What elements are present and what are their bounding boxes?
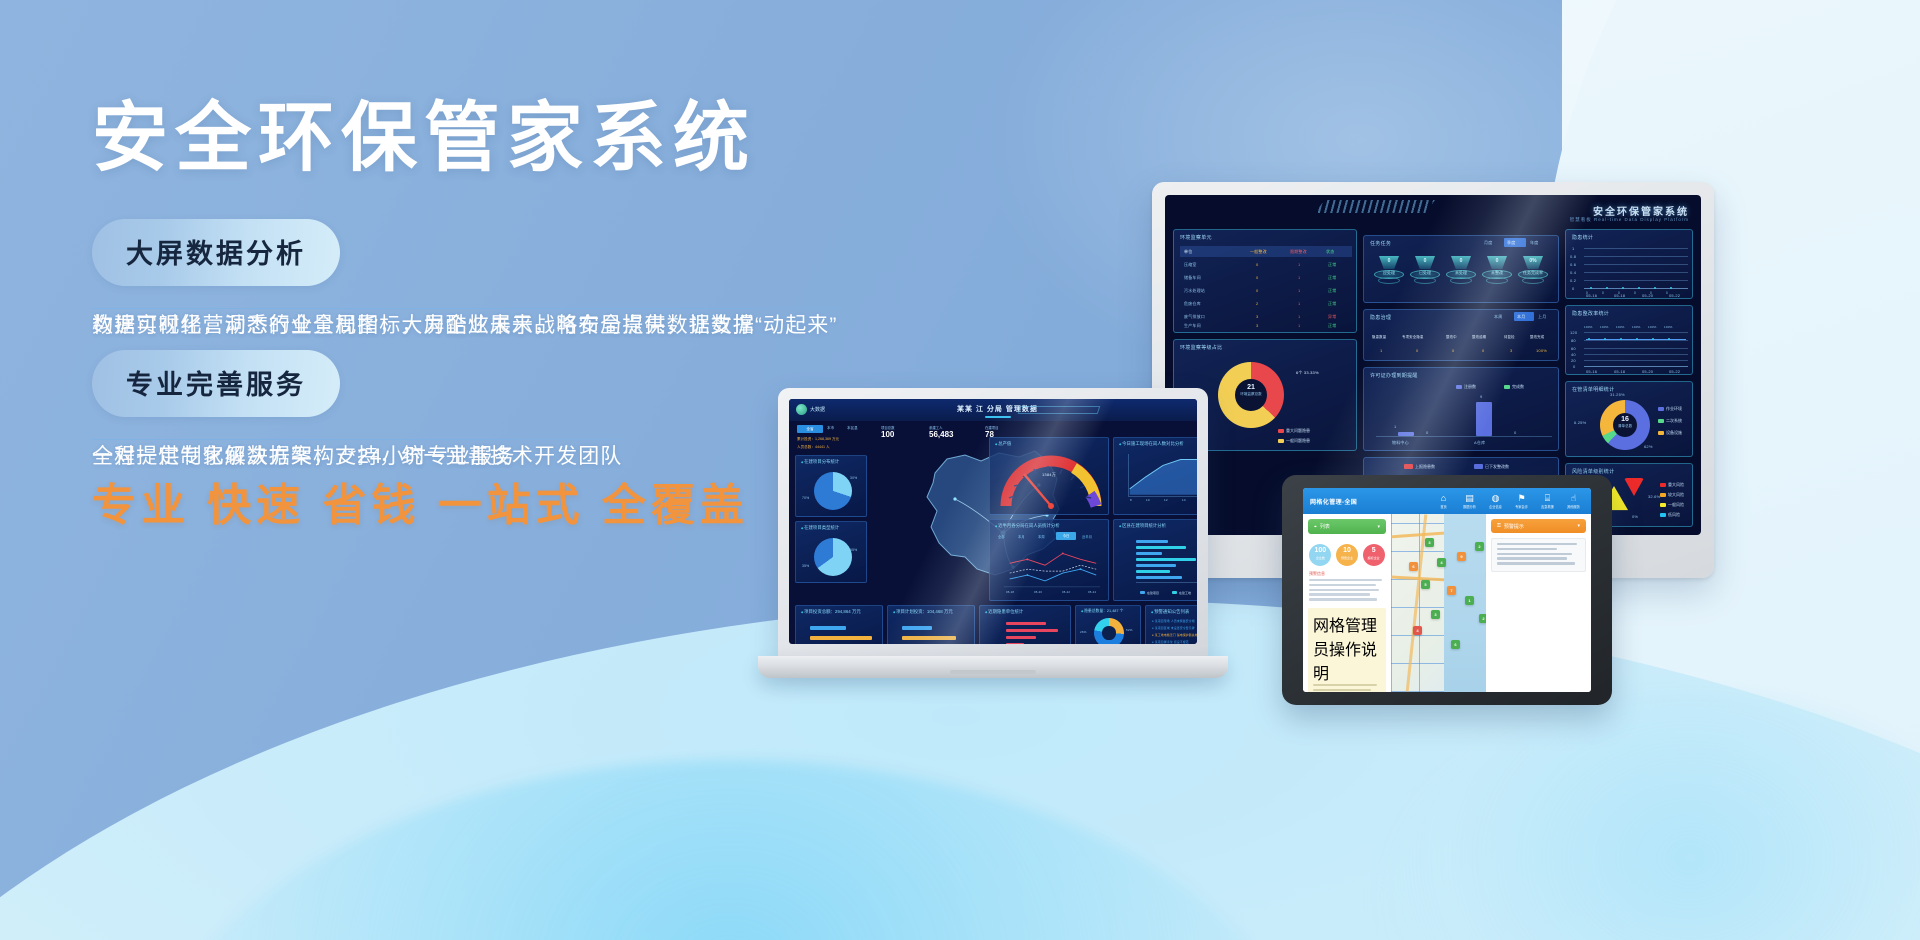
cell-status: 正常 xyxy=(1328,262,1336,268)
y-tick: 0 xyxy=(1573,364,1575,369)
slice-label: 65% xyxy=(850,548,857,552)
donut-value: 16 xyxy=(1621,416,1629,423)
cell-c2: 1 xyxy=(1298,275,1300,280)
x-tick: 8 xyxy=(1130,498,1132,502)
map-marker[interactable]: 3 xyxy=(1431,610,1440,619)
panel-unit-table: 环境监察单元 单位 一般整改 限期整改 状态 压缩室 0 1 正常 xyxy=(1173,229,1357,333)
point-label: 100% xyxy=(1632,325,1640,329)
page-title: 安全环保管家系统 xyxy=(92,96,1032,181)
x-tick: 14 xyxy=(1182,498,1186,502)
panel-project-type: 在建项目类型统计 65% 35% xyxy=(795,521,867,583)
map-marker[interactable]: 6 xyxy=(1409,562,1418,571)
point-label: 100% xyxy=(1600,325,1608,329)
warning-list xyxy=(1491,538,1586,572)
app-title: 网格化管理-全国 xyxy=(1310,497,1357,506)
cell-value: 1 xyxy=(1380,348,1382,353)
tab-active[interactable]: 全省 xyxy=(797,425,823,433)
feature-line: 数据可视化，洞悉行业全局指标，为企业未来战略布局提供数据支撑 xyxy=(92,308,755,309)
panel-hazard-line: 隐患统计 1 0.8 0.6 0.4 0.2 0 xyxy=(1565,229,1693,299)
thumb-icon: ☝ xyxy=(1565,493,1582,503)
cell-c2: 1 xyxy=(1298,314,1300,319)
donut-label: 清单总数 xyxy=(1600,424,1650,429)
panel-title: 环境监察单元 xyxy=(1180,234,1212,241)
tab[interactable]: 本市 xyxy=(827,426,834,431)
alarm-icon: ⌸ xyxy=(1539,493,1556,503)
notice-item: ● 某项目区域 未设置安全警示牌 xyxy=(1152,626,1195,630)
x-tick: 05-16 xyxy=(1586,369,1597,374)
panel-title: 区县在建项目统计分析 xyxy=(1119,523,1166,529)
panel-hazard-donut: 隐患总数量：21,487 个 26% 52% 一般隐患 xyxy=(1075,605,1141,644)
cell-c2: 1 xyxy=(1298,323,1300,328)
task-cone: 0已处理 xyxy=(1408,256,1442,290)
bar xyxy=(1476,402,1492,436)
header-deco-icon xyxy=(1018,406,1101,414)
annotation: 32.6% xyxy=(1648,494,1660,499)
map-marker[interactable]: 4 xyxy=(1437,558,1446,567)
donut-center-label: 16 清单总数 xyxy=(1600,400,1650,450)
cell-value: 0 xyxy=(1452,348,1454,353)
panel-title: 隐患总数量：21,487 个 xyxy=(1081,609,1123,614)
panel-title: 风险清单级别统计 xyxy=(1572,468,1614,475)
pie-chart xyxy=(814,538,852,576)
tab[interactable]: 年度 xyxy=(1530,240,1538,246)
cell-value: 0 xyxy=(1482,348,1484,353)
legend-item: 上报隐患数 xyxy=(1404,464,1435,470)
alert-list: 预警信息 xyxy=(1303,569,1391,605)
panel-title: 许可证办理到期提醒 xyxy=(1370,372,1418,379)
panel-title: 项目投资总额：294,864 万元 xyxy=(801,609,861,615)
panel-title: 总产值 xyxy=(995,441,1011,447)
y-tick: 120 xyxy=(1570,330,1577,335)
cell-c1: 3 xyxy=(1256,323,1258,328)
legend-item: 二次系统 xyxy=(1658,418,1682,424)
bar xyxy=(1136,540,1168,543)
bar xyxy=(1136,558,1196,561)
cell-status: 正常 xyxy=(1328,301,1336,307)
cell-value: 0 xyxy=(1416,348,1418,353)
slice-label: 70% xyxy=(802,496,809,500)
hero-banner: 安全环保管家系统 大屏数据分析 构建实时经营动态的全景视图，大屏酷炫展示，将安全… xyxy=(0,0,1920,940)
y-tick: 20 xyxy=(1571,358,1576,363)
x-tick: A仓库 xyxy=(1474,440,1485,446)
laptop-lid: 大数据 某某 江 分局 管理数据 全省 本市 本区县 累计投资：1,268,36… xyxy=(778,388,1208,660)
brand-name: 大数据 xyxy=(810,406,825,413)
notice-item: ● 某工地电箱无门 漏电保护器失效 xyxy=(1152,633,1197,637)
cell-c2: 1 xyxy=(1298,288,1300,293)
bar xyxy=(1006,643,1024,644)
info-icon: ◍ xyxy=(1487,493,1504,503)
legend-item: 重大风险 xyxy=(1660,482,1684,488)
cell-name: 储备车间 xyxy=(1184,275,1201,281)
gauge-value: 1384万 xyxy=(1042,472,1056,478)
device-showcase: 安全环保管家系统 智慧看板 Real-time Data Display Pla… xyxy=(900,150,1920,830)
alert-title: 预警信息 xyxy=(1309,571,1385,577)
cell-name: 污水处理站 xyxy=(1184,288,1205,294)
x-tick: 10 xyxy=(1146,498,1150,502)
nav-data-analysis[interactable]: ▤数据分析 xyxy=(1461,493,1478,509)
total-investment: 累计投资：1,268,369 万元 xyxy=(797,437,839,442)
tablet-device: 网格化管理-全国 ⌂首页 ▤数据分析 ◍企业信息 ⚑专家会诊 ⌸应急救援 ☝其他… xyxy=(1282,475,1612,705)
x-tick: 05-18 xyxy=(1614,293,1625,298)
y-tick: 80 xyxy=(1571,338,1576,343)
cell-status: 正常 xyxy=(1328,275,1336,281)
x-tick: 05-22 xyxy=(1669,369,1680,374)
header-stripes-icon xyxy=(1315,200,1435,213)
y-tick: 40 xyxy=(1571,352,1576,357)
cell-name: 危废仓库 xyxy=(1184,301,1201,307)
home-icon: ⌂ xyxy=(1435,493,1452,503)
cell-name: 废气排放口 xyxy=(1184,314,1205,320)
bar xyxy=(1136,564,1176,567)
laptop-dashboard: 大数据 某某 江 分局 管理数据 全省 本市 本区县 累计投资：1,268,36… xyxy=(789,399,1197,644)
tab[interactable]: 月度 xyxy=(1484,240,1492,246)
panel-project-distribution: 在建项目分布统计 30% 70% xyxy=(795,455,867,517)
legend-item: 一般风险 xyxy=(1660,502,1684,508)
x-tick: 05-22 xyxy=(1669,293,1680,298)
stat-circles: 100 企业数 10 预警企业 5 超标企业 xyxy=(1303,539,1391,569)
y-tick: 60 xyxy=(1571,346,1576,351)
panel-checklist-donut: 在管清单明细统计 16 清单总数 31.25% 6.25% 62% xyxy=(1565,381,1693,457)
panel-rectification-rate-line: 隐患整改率统计 120 80 60 40 20 0 xyxy=(1565,305,1693,375)
bar xyxy=(902,626,932,630)
nav-expert[interactable]: ⚑专家会诊 xyxy=(1513,493,1530,509)
legend-item: 已下发整改数 xyxy=(1474,464,1509,470)
col-header: 隐患数量 xyxy=(1372,334,1386,339)
panel-title: 在建项目类型统计 xyxy=(801,525,839,531)
map-marker[interactable]: 4 xyxy=(1413,626,1422,635)
nav-emergency[interactable]: ⌸应急救援 xyxy=(1539,493,1556,509)
map-marker[interactable]: 3 xyxy=(1425,538,1434,547)
chevron-down-icon: ▾ xyxy=(1377,524,1380,530)
laptop-base xyxy=(758,656,1228,678)
task-cone: 0未处理 xyxy=(1444,256,1478,290)
laptop-device: 大数据 某某 江 分局 管理数据 全省 本市 本区县 累计投资：1,268,36… xyxy=(758,388,1228,706)
lock-icon: ⚿ xyxy=(1497,523,1501,529)
tab[interactable]: 本周 xyxy=(1494,314,1502,320)
panel-tasks: 任务任务 月度 季度 年度 0应处理 0已处理 0未处理 0未整改 0%任务完成… xyxy=(1363,235,1559,303)
panel-title: 环境监察等级占比 xyxy=(1180,344,1222,351)
legend-item: 重大问题隐患 xyxy=(1278,428,1310,434)
point-label: 100% xyxy=(1616,325,1624,329)
panel-title: 隐患治理 xyxy=(1370,314,1391,321)
pin-icon: ⌖ xyxy=(1314,524,1317,530)
person-icon: ⚑ xyxy=(1513,493,1530,503)
col-header: 限期整改 xyxy=(1290,249,1307,255)
stat-total: 100 企业数 xyxy=(1309,544,1331,566)
x-tick: 12 xyxy=(1164,498,1168,502)
notice-item: ● 某项目现场 人员未佩戴安全帽 xyxy=(1152,619,1195,623)
tablet-app-header: 网格化管理-全国 ⌂首页 ▤数据分析 ◍企业信息 ⚑专家会诊 ⌸应急救援 ☝其他… xyxy=(1303,488,1591,514)
x-tick: 05-16 xyxy=(1586,293,1597,298)
legend-item: 在建项目 xyxy=(1140,590,1159,595)
map-marker[interactable]: 7 xyxy=(1447,586,1456,595)
donut-chart xyxy=(1094,618,1124,644)
notice-item: ● 某项目脚手架 搭设不规范 xyxy=(1152,640,1189,644)
task-cone: 0未整改 xyxy=(1480,256,1514,290)
point-label: 100% xyxy=(1584,325,1592,329)
nav-home[interactable]: ⌂首页 xyxy=(1435,493,1452,509)
bar xyxy=(1006,629,1058,632)
col-header: 整改逾期 xyxy=(1472,334,1486,339)
feature-line: 一对一定制化解决方案，7*24小时专业服务 xyxy=(92,439,515,440)
total-people: 人员总数：44441 人 xyxy=(797,445,830,450)
cell-name: 生产车间 xyxy=(1184,323,1201,329)
panel-title: 近期隐患单位统计 xyxy=(985,609,1023,615)
tablet-body: 网格化管理-全国 ⌂首页 ▤数据分析 ◍企业信息 ⚑专家会诊 ⌸应急救援 ☝其他… xyxy=(1282,475,1612,705)
pie-chart xyxy=(814,472,852,510)
y-tick: 1 xyxy=(1572,246,1574,251)
panel-onsite-trend: 今日施工现场在岗人数对比分析 8 10 12 14 16 xyxy=(1113,437,1197,515)
panel-hazard-management: 隐患治理 本周 本月 上月 隐患数量 专项安全隐患 整改中 整改逾期 待复检 整… xyxy=(1363,309,1559,361)
chevron-down-icon: ▾ xyxy=(1577,523,1580,529)
dashboard-title: 安全环保管家系统 xyxy=(1593,203,1689,218)
bar xyxy=(1006,636,1036,639)
panel-title: 任务任务 xyxy=(1370,240,1391,247)
legend-item: 注册数 xyxy=(1456,384,1476,390)
stat-exceed: 5 超标企业 xyxy=(1363,544,1385,566)
task-cone: 0%任务完成率 xyxy=(1516,256,1550,290)
task-cone: 0应处理 xyxy=(1372,256,1406,290)
cell-c1: 2 xyxy=(1256,301,1258,306)
col-header: 状态 xyxy=(1326,249,1334,255)
monitor-icon: ▤ xyxy=(1461,493,1478,503)
list-dropdown[interactable]: ⌖ 列表 ▾ xyxy=(1308,519,1386,534)
panel-planned-investment: 项目计划投资：104,468 万元 xyxy=(887,605,975,644)
tab[interactable]: 本区县 xyxy=(847,426,858,431)
bar xyxy=(1398,432,1414,436)
pie-slice-major xyxy=(1624,478,1644,496)
legend-item: 设备设施 xyxy=(1658,430,1682,436)
annotation: 62% xyxy=(1644,444,1653,449)
panel-title: 在建项目分布统计 xyxy=(801,459,839,465)
donut-value: 21 xyxy=(1247,384,1255,391)
cell-c2: 1 xyxy=(1298,301,1300,306)
cell-c1: 0 xyxy=(1256,262,1258,267)
x-tick: 05-20 xyxy=(1642,293,1653,298)
tablet-nav: ⌂首页 ▤数据分析 ◍企业信息 ⚑专家会诊 ⌸应急救援 ☝其他服务 xyxy=(1435,493,1591,509)
map-marker[interactable]: 1 xyxy=(1465,596,1474,605)
bar xyxy=(1136,570,1170,573)
map-marker[interactable]: 6 xyxy=(1451,640,1460,649)
col-header: 整改中 xyxy=(1446,334,1457,339)
y-tick: 0.2 xyxy=(1570,278,1576,283)
tablet-screen: 网格化管理-全国 ⌂首页 ▤数据分析 ◍企业信息 ⚑专家会诊 ⌸应急救援 ☝其他… xyxy=(1303,488,1591,692)
panel-title: 隐患统计 xyxy=(1572,234,1593,241)
col-header: 一般整改 xyxy=(1250,249,1267,255)
legend-item: 完成数 xyxy=(1504,384,1524,390)
donut-annotation: 6个 33.33% xyxy=(1296,370,1319,376)
legend-item: 较大风险 xyxy=(1660,492,1684,498)
y-tick: 0.8 xyxy=(1570,254,1576,259)
cell-c1: 0 xyxy=(1256,275,1258,280)
x-tick: 05-18 xyxy=(1614,369,1625,374)
col-header: 单位 xyxy=(1184,249,1192,255)
point-label: 100% xyxy=(1648,325,1656,329)
panel-warning-notices: 预警通知公告列表 ● 某项目现场 人员未佩戴安全帽 ● 某项目区域 未设置安全警… xyxy=(1145,605,1197,644)
feature-badge-professional-service: 专业完善服务 xyxy=(92,350,340,417)
laptop-screen: 大数据 某某 江 分局 管理数据 全省 本市 本区县 累计投资：1,268,36… xyxy=(789,399,1197,644)
bar xyxy=(810,626,846,630)
cell-status: 正常 xyxy=(1328,288,1336,294)
legend-item: 低风险 xyxy=(1660,512,1680,518)
cell-c2: 1 xyxy=(1298,262,1300,267)
brand-logo-icon xyxy=(796,404,807,415)
slice-label: 35% xyxy=(802,564,809,568)
tablet-grid-map[interactable]: 6 3 4 9 2 8 5 7 1 3 2 4 6 5 2 xyxy=(1391,514,1486,692)
tab-active[interactable]: 本月 xyxy=(1514,312,1534,321)
map-marker[interactable]: 5 xyxy=(1421,580,1430,589)
kpi-item: 项目总数 100 xyxy=(881,425,895,439)
y-tick: 0.4 xyxy=(1570,270,1576,275)
col-header: 专项安全隐患 xyxy=(1402,334,1424,339)
cell-c1: 0 xyxy=(1256,288,1258,293)
col-header: 整改完成 xyxy=(1530,334,1544,339)
panel-district-rank: 区县在建项目统计分析 在建项目 在建工地 xyxy=(1113,519,1197,601)
point-label: 100% xyxy=(1664,325,1672,329)
col-header: 待复检 xyxy=(1504,334,1515,339)
warning-dropdown[interactable]: ⚿ 预警提示 ▾ xyxy=(1491,519,1586,533)
cell-name: 压缩室 xyxy=(1184,262,1197,268)
x-tick: 05-20 xyxy=(1642,369,1653,374)
map-marker[interactable]: 9 xyxy=(1457,552,1466,561)
panel-investment-total: 项目投资总额：294,864 万元 xyxy=(795,605,883,644)
dashboard-subtitle: 智慧看板 Real-time Data Display Platform xyxy=(1570,217,1689,223)
bar xyxy=(810,636,872,640)
panel-multi-line: 近半月各分局在岗人员统计分析 全部 本月 本周 今日 近半月 xyxy=(989,519,1109,601)
legend-item: 作业环境 xyxy=(1658,406,1682,412)
cell-status: 异常 xyxy=(1328,314,1336,320)
y-tick: 0 xyxy=(1572,286,1574,291)
bar xyxy=(1136,546,1186,549)
panel-title: 预警通知公告列表 xyxy=(1151,609,1189,615)
annotation: 0% xyxy=(1632,514,1638,519)
panel-license-expiry-bar: 许可证办理到期提醒 注册数 完成数 1 0 xyxy=(1363,367,1559,451)
bar xyxy=(1006,622,1046,625)
x-tick: 物料中心 xyxy=(1392,440,1409,446)
annotation: 6.25% xyxy=(1574,420,1586,425)
tablet-left-panel: ⌖ 列表 ▾ 100 企业数 10 预警企业 xyxy=(1303,514,1391,692)
panel-gauge: 总产值 xyxy=(989,437,1109,515)
tablet-right-panel: ⚿ 预警提示 ▾ xyxy=(1486,514,1591,692)
slice-label: 30% xyxy=(850,476,857,480)
operation-note: 网格管理员操作说明 xyxy=(1308,608,1386,692)
gauge-chart xyxy=(996,450,1106,512)
bar xyxy=(1136,576,1182,579)
title-underline xyxy=(985,416,1011,418)
map-marker[interactable]: 2 xyxy=(1475,542,1484,551)
panel-title: 在管清单明细统计 xyxy=(1572,386,1614,393)
panel-title: 项目计划投资：104,468 万元 xyxy=(893,609,953,615)
panel-hazard-units: 近期隐患单位统计 xyxy=(979,605,1071,644)
tab[interactable]: 上月 xyxy=(1538,314,1546,320)
legend-item: 在建工地 xyxy=(1172,590,1191,595)
feature-badge-data-analysis: 大屏数据分析 xyxy=(92,219,340,286)
cell-status: 正常 xyxy=(1328,323,1336,329)
map-marker[interactable]: 2 xyxy=(1479,614,1486,623)
bar xyxy=(1136,552,1162,555)
bar xyxy=(902,636,956,640)
nav-other[interactable]: ☝其他服务 xyxy=(1565,493,1582,509)
nav-enterprise-info[interactable]: ◍企业信息 xyxy=(1487,493,1504,509)
stat-warning: 10 预警企业 xyxy=(1336,544,1358,566)
annotation: 31.25% xyxy=(1610,392,1625,397)
panel-title: 隐患整改率统计 xyxy=(1572,310,1609,317)
cell-value: 100% xyxy=(1536,348,1547,353)
tab-active[interactable]: 季度 xyxy=(1504,238,1526,247)
cell-value: 3 xyxy=(1510,348,1512,353)
cell-c1: 3 xyxy=(1256,314,1258,319)
note-title: 网格管理员操作说明 xyxy=(1313,612,1381,684)
y-tick: 0.6 xyxy=(1570,262,1576,267)
legend-item: 一般问题隐患 xyxy=(1278,438,1310,444)
